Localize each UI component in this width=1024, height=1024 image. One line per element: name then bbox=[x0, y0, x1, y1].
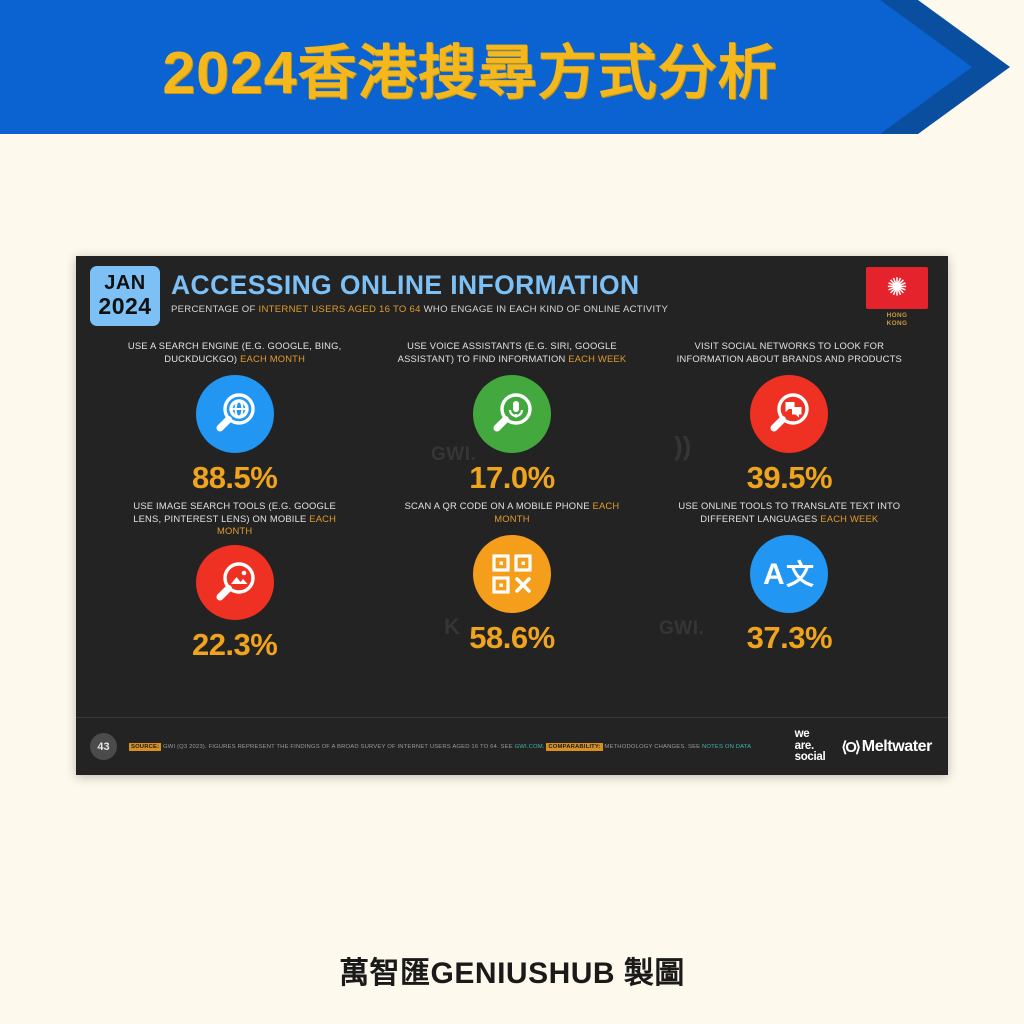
slide-footer: 43 SOURCE: GWI (Q3 2023). FIGURES REPRES… bbox=[76, 717, 948, 775]
stat-value: 17.0% bbox=[469, 462, 554, 493]
slide-subtitle: PERCENTAGE OF INTERNET USERS AGED 16 TO … bbox=[171, 305, 668, 316]
subtitle-highlight: INTERNET USERS AGED 16 TO 64 bbox=[259, 304, 421, 315]
date-badge-year: 2024 bbox=[98, 294, 151, 318]
stat-tile-search-engine: USE A SEARCH ENGINE (E.G. GOOGLE, BING, … bbox=[96, 340, 373, 500]
stat-tile-social-networks: VISIT SOCIAL NETWORKS TO LOOK FOR INFORM… bbox=[651, 340, 928, 500]
magnifier-chat-icon bbox=[750, 375, 828, 453]
bauhinia-star-glyph: ✺ bbox=[887, 276, 908, 301]
stat-tile-image-search: USE IMAGE SEARCH TOOLS (E.G. GOOGLE LENS… bbox=[96, 500, 373, 660]
stat-label-text: USE IMAGE SEARCH TOOLS (E.G. GOOGLE LENS… bbox=[133, 500, 336, 524]
stat-label-highlight: EACH WEEK bbox=[820, 513, 878, 524]
subtitle-part-2: WHO ENGAGE IN EACH KIND OF ONLINE ACTIVI… bbox=[421, 304, 668, 315]
stat-label-text: SCAN A QR CODE ON A MOBILE PHONE bbox=[405, 500, 593, 511]
svg-text:文: 文 bbox=[786, 558, 814, 591]
source-tag: SOURCE: bbox=[129, 743, 161, 751]
notes-link[interactable]: NOTES ON DATA bbox=[702, 744, 751, 750]
country-label: HONG KONG bbox=[862, 312, 932, 328]
stat-tile-translate: USE ONLINE TOOLS TO TRANSLATE TEXT INTO … bbox=[651, 500, 928, 660]
source-text: GWI (Q3 2023). FIGURES REPRESENT THE FIN… bbox=[161, 744, 514, 750]
slide-title: ACCESSING ONLINE INFORMATION bbox=[171, 272, 668, 299]
stat-label: SCAN A QR CODE ON A MOBILE PHONE EACH MO… bbox=[396, 500, 628, 526]
magnifier-microphone-icon bbox=[473, 375, 551, 453]
country-label-line1: HONG bbox=[862, 312, 932, 320]
stats-grid: USE A SEARCH ENGINE (E.G. GOOGLE, BING, … bbox=[76, 340, 948, 660]
country-label-line2: KONG bbox=[862, 320, 932, 328]
infographic-slide: JAN 2024 ACCESSING ONLINE INFORMATION PE… bbox=[76, 256, 948, 775]
stat-value: 58.6% bbox=[469, 622, 554, 653]
footer-caption: 萬智匯GENIUSHUB 製圖 bbox=[0, 948, 1024, 992]
header-text-block: ACCESSING ONLINE INFORMATION PERCENTAGE … bbox=[171, 272, 668, 315]
banner-title: 2024香港搜尋方式分析 bbox=[0, 0, 940, 134]
stat-value: 39.5% bbox=[747, 462, 832, 493]
source-note: SOURCE: GWI (Q3 2023). FIGURES REPRESENT… bbox=[129, 744, 795, 750]
date-badge: JAN 2024 bbox=[90, 266, 160, 326]
stat-label: USE VOICE ASSISTANTS (E.G. SIRI, GOOGLE … bbox=[396, 340, 628, 366]
stat-value: 37.3% bbox=[747, 622, 832, 653]
translate-icon: A 文 bbox=[750, 535, 828, 613]
header-banner: 2024香港搜尋方式分析 bbox=[0, 0, 1024, 134]
logo-line-social: social bbox=[795, 752, 826, 764]
stat-label: USE A SEARCH ENGINE (E.G. GOOGLE, BING, … bbox=[119, 340, 351, 366]
meltwater-logo: ⟨O⟩ Meltwater bbox=[841, 738, 932, 756]
date-badge-month: JAN bbox=[104, 273, 146, 294]
stat-label-highlight: EACH MONTH bbox=[240, 353, 305, 364]
country-flag-block: ✺ HONG KONG bbox=[862, 267, 932, 328]
slide-header: JAN 2024 ACCESSING ONLINE INFORMATION PE… bbox=[76, 256, 948, 336]
source-link[interactable]: GWI.COM bbox=[515, 744, 543, 750]
magnifier-image-icon bbox=[196, 545, 274, 620]
stat-label: VISIT SOCIAL NETWORKS TO LOOK FOR INFORM… bbox=[673, 340, 905, 366]
meltwater-mark-icon: ⟨O⟩ bbox=[841, 738, 858, 756]
stat-value: 88.5% bbox=[192, 462, 277, 493]
comparability-tag: COMPARABILITY: bbox=[546, 743, 602, 751]
page-number-badge: 43 bbox=[90, 733, 117, 760]
stat-value: 22.3% bbox=[192, 629, 277, 660]
magnifier-globe-icon bbox=[196, 375, 274, 453]
stat-label: USE IMAGE SEARCH TOOLS (E.G. GOOGLE LENS… bbox=[119, 500, 351, 536]
footer-logos: we are. social ⟨O⟩ Meltwater bbox=[795, 729, 932, 764]
svg-text:A: A bbox=[763, 558, 785, 591]
hong-kong-flag-icon: ✺ bbox=[866, 267, 928, 309]
we-are-social-logo: we are. social bbox=[795, 729, 826, 764]
stat-tile-qr-code: SCAN A QR CODE ON A MOBILE PHONE EACH MO… bbox=[373, 500, 650, 660]
subtitle-part-1: PERCENTAGE OF bbox=[171, 304, 259, 315]
stat-label-highlight: EACH WEEK bbox=[568, 353, 626, 364]
stat-label-text: VISIT SOCIAL NETWORKS TO LOOK FOR INFORM… bbox=[677, 340, 902, 364]
meltwater-wordmark: Meltwater bbox=[862, 738, 932, 756]
comparability-text: METHODOLOGY CHANGES. SEE bbox=[603, 744, 702, 750]
qr-code-icon bbox=[473, 535, 551, 613]
stat-label-text: USE A SEARCH ENGINE (E.G. GOOGLE, BING, … bbox=[128, 340, 342, 364]
stat-label: USE ONLINE TOOLS TO TRANSLATE TEXT INTO … bbox=[673, 500, 905, 526]
stat-tile-voice-assistant: USE VOICE ASSISTANTS (E.G. SIRI, GOOGLE … bbox=[373, 340, 650, 500]
